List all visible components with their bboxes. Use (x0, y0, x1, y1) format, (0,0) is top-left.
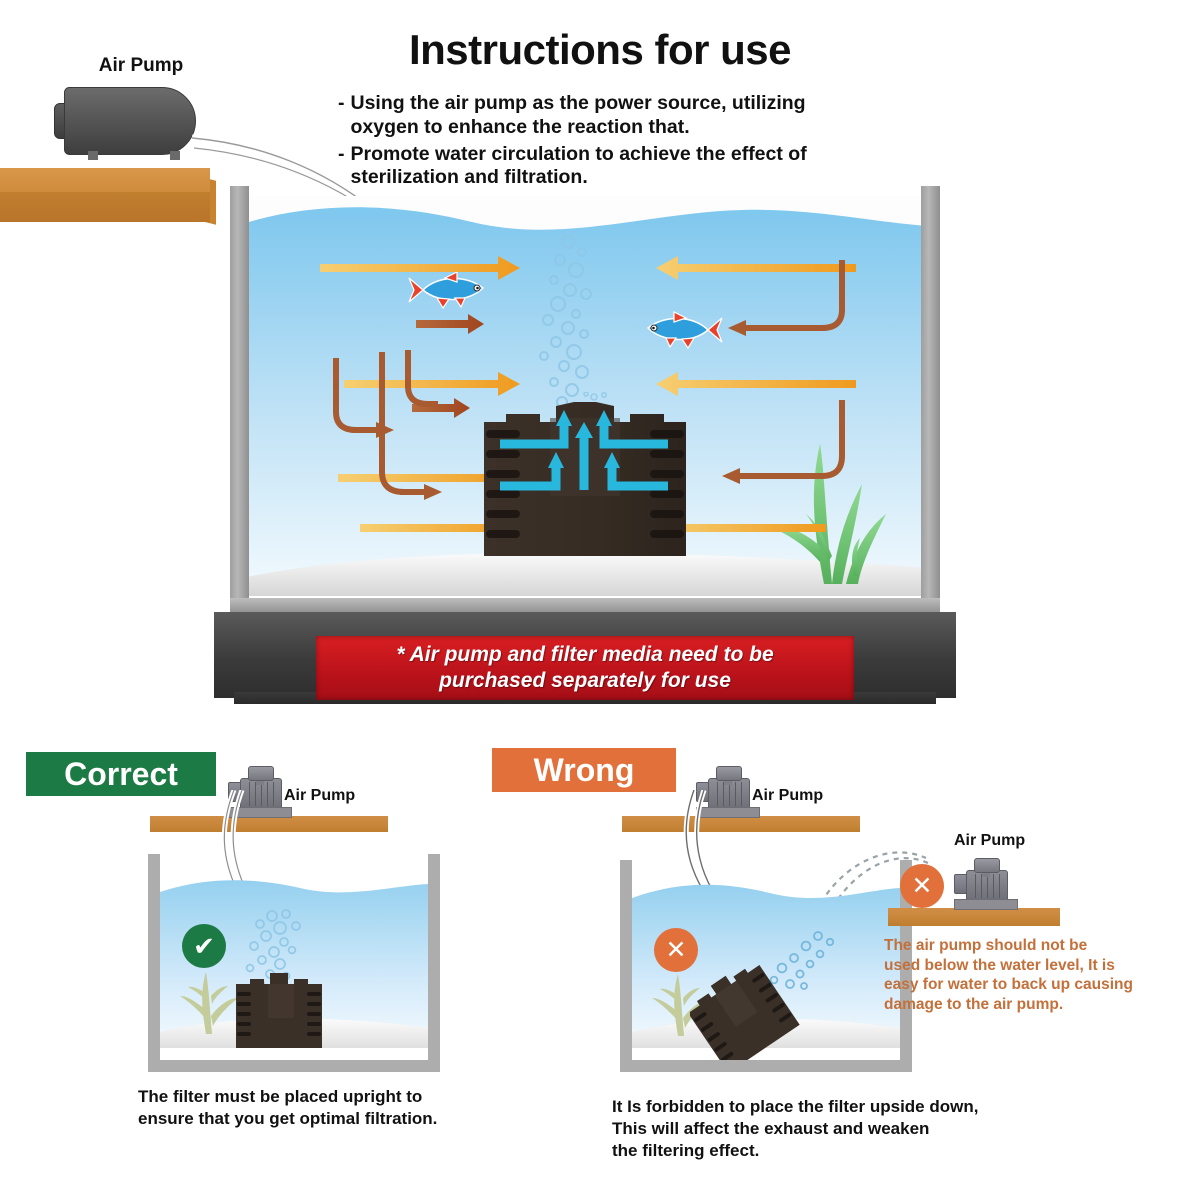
wrong-caption: It Is forbidden to place the filter upsi… (612, 1096, 1012, 1162)
air-pump-label: Air Pump (954, 832, 1025, 850)
caption-line-2: ensure that you get optimal filtration. (138, 1108, 498, 1130)
air-pump-label: Air Pump (284, 787, 355, 805)
aquatic-plant-icon (180, 966, 238, 1034)
wrong-badge: Wrong (492, 748, 676, 792)
caption-line-1: It Is forbidden to place the filter upsi… (612, 1096, 1012, 1118)
tank-frame-post (230, 186, 249, 600)
sponge-filter-icon (690, 964, 800, 1060)
wooden-board (888, 908, 1060, 926)
banner-line-1: * Air pump and filter media need to be (396, 642, 773, 668)
tank-glass (242, 196, 928, 596)
tank-water (242, 196, 928, 596)
cross-circle-icon: ✕ (900, 864, 944, 908)
cross-circle-icon: ✕ (654, 928, 698, 972)
correct-caption: The filter must be placed upright to ens… (138, 1086, 498, 1130)
check-circle-icon: ✔ (182, 924, 226, 968)
warning-line-4: damage to the air pump. (884, 995, 1146, 1015)
caption-line-2: This will affect the exhaust and weaken (612, 1118, 1012, 1140)
air-pump-icon (954, 852, 1016, 910)
air-pump-label: Air Pump (66, 55, 216, 77)
warning-line-2: used below the water level, It is (884, 956, 1146, 976)
correct-tank-diagram: ✔ (148, 854, 440, 1072)
cross-glyph: ✕ (666, 935, 687, 965)
warning-line-1: The air pump should not be (884, 936, 1146, 956)
warning-line-3: easy for water to back up causing (884, 975, 1146, 995)
purchase-note-banner: * Air pump and filter media need to be p… (316, 636, 854, 700)
sponge-filter-icon (478, 392, 692, 560)
sponge-filter-icon (234, 970, 324, 1048)
banner-line-2: purchased separately for use (396, 668, 773, 694)
caption-line-1: The filter must be placed upright to (138, 1086, 498, 1108)
caption-line-3: the filtering effect. (612, 1140, 1012, 1162)
check-glyph: ✔ (193, 931, 215, 962)
wrong-tank-diagram: ✕ (620, 860, 912, 1072)
tank-frame-post (921, 186, 940, 600)
page-title: Instructions for use (330, 28, 870, 72)
warning-text: The air pump should not be used below th… (884, 936, 1146, 1014)
cross-glyph: ✕ (912, 871, 933, 901)
aquarium-tank-diagram (228, 182, 942, 632)
correct-badge: Correct (26, 752, 216, 796)
